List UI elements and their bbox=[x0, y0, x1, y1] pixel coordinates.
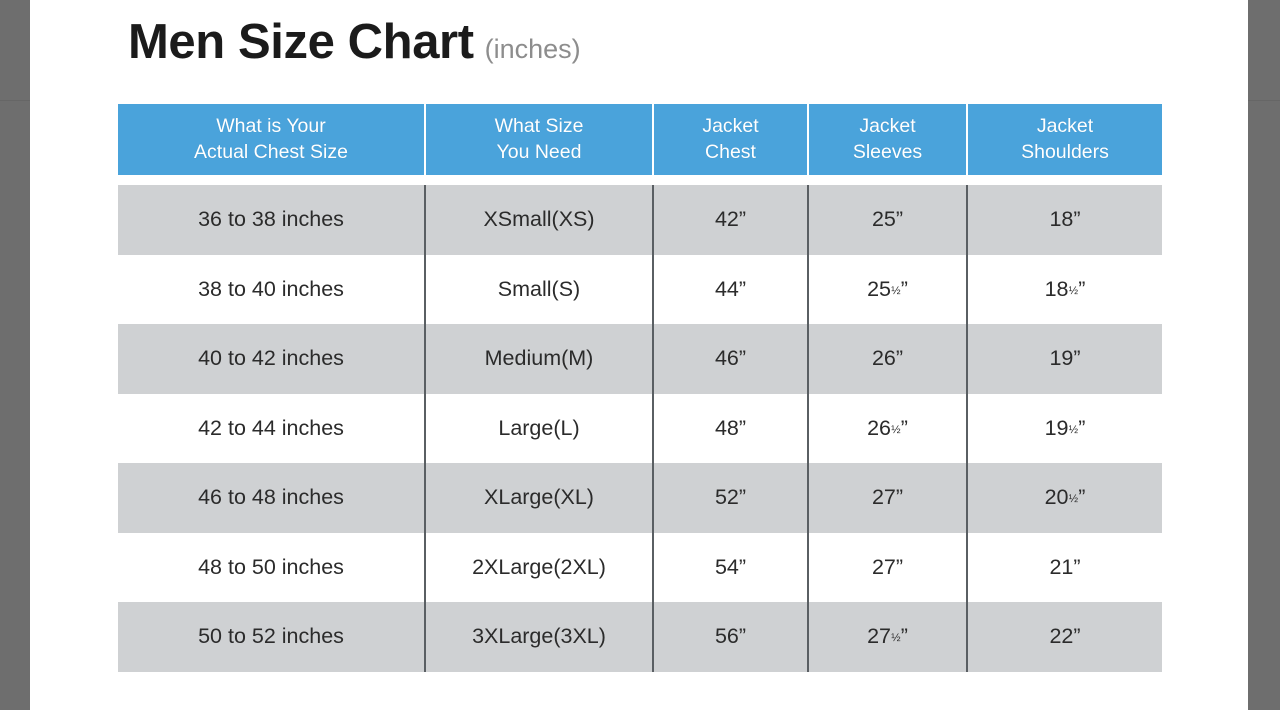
cell-chest-range: 42 to 44 inches bbox=[118, 394, 425, 464]
half-fraction-glyph: ½ bbox=[1069, 286, 1078, 297]
cell-chest-range: 38 to 40 inches bbox=[118, 255, 425, 325]
cell-size-name: Large(L) bbox=[425, 394, 653, 464]
header-body-gap-cell bbox=[118, 175, 1162, 185]
slide-canvas: Men Size Chart (inches) What is Your Act… bbox=[30, 0, 1248, 710]
cell-chest-range: 46 to 48 inches bbox=[118, 463, 425, 533]
column-header-line2: Chest bbox=[658, 140, 803, 166]
cell-chest-range: 36 to 38 inches bbox=[118, 185, 425, 255]
column-header-line1: What is Your bbox=[122, 114, 420, 140]
cell-jacket-sleeves: 27½” bbox=[808, 602, 967, 672]
table-header-row: What is Your Actual Chest Size What Size… bbox=[118, 104, 1162, 175]
screenshot-root: Men Size Chart (inches) What is Your Act… bbox=[0, 0, 1280, 710]
cell-jacket-shoulders: 18” bbox=[967, 185, 1162, 255]
half-fraction-glyph: ½ bbox=[1069, 494, 1078, 505]
half-fraction-glyph: ½ bbox=[891, 633, 900, 644]
column-header-jacket-sleeves: Jacket Sleeves bbox=[808, 104, 967, 175]
cell-jacket-sleeves: 27” bbox=[808, 533, 967, 603]
table-header: What is Your Actual Chest Size What Size… bbox=[118, 104, 1162, 175]
table-row: 46 to 48 inches XLarge(XL) 52” 27” 20½” bbox=[118, 463, 1162, 533]
cell-chest-range: 40 to 42 inches bbox=[118, 324, 425, 394]
cell-size-name: 2XLarge(2XL) bbox=[425, 533, 653, 603]
cell-size-name: Medium(M) bbox=[425, 324, 653, 394]
cell-jacket-chest: 42” bbox=[653, 185, 808, 255]
table-row: 48 to 50 inches 2XLarge(2XL) 54” 27” 21” bbox=[118, 533, 1162, 603]
cell-jacket-chest: 44” bbox=[653, 255, 808, 325]
size-chart-table: What is Your Actual Chest Size What Size… bbox=[118, 104, 1162, 672]
cell-jacket-chest: 48” bbox=[653, 394, 808, 464]
column-header-line2: Sleeves bbox=[813, 140, 962, 166]
cell-jacket-chest: 46” bbox=[653, 324, 808, 394]
table-row: 50 to 52 inches 3XLarge(3XL) 56” 27½” 22… bbox=[118, 602, 1162, 672]
cell-jacket-sleeves: 25½” bbox=[808, 255, 967, 325]
letterbox-bar-left bbox=[0, 0, 30, 710]
cell-chest-range: 48 to 50 inches bbox=[118, 533, 425, 603]
table-body: 36 to 38 inches XSmall(XS) 42” 25” 18” 3… bbox=[118, 175, 1162, 672]
cell-jacket-shoulders: 19” bbox=[967, 324, 1162, 394]
column-header-jacket-chest: Jacket Chest bbox=[653, 104, 808, 175]
column-header-line1: Jacket bbox=[658, 114, 803, 140]
table-row: 36 to 38 inches XSmall(XS) 42” 25” 18” bbox=[118, 185, 1162, 255]
column-header-line2: You Need bbox=[430, 140, 648, 166]
column-header-line2: Shoulders bbox=[972, 140, 1158, 166]
cell-size-name: XSmall(XS) bbox=[425, 185, 653, 255]
half-fraction-glyph: ½ bbox=[891, 425, 900, 436]
header-body-gap bbox=[118, 175, 1162, 185]
column-header-jacket-shoulders: Jacket Shoulders bbox=[967, 104, 1162, 175]
cell-jacket-chest: 52” bbox=[653, 463, 808, 533]
column-header-line1: What Size bbox=[430, 114, 648, 140]
half-fraction-glyph: ½ bbox=[891, 286, 900, 297]
cell-jacket-sleeves: 25” bbox=[808, 185, 967, 255]
table-row: 42 to 44 inches Large(L) 48” 26½” 19½” bbox=[118, 394, 1162, 464]
page-title-unit: (inches) bbox=[485, 36, 581, 63]
cell-size-name: XLarge(XL) bbox=[425, 463, 653, 533]
cell-size-name: 3XLarge(3XL) bbox=[425, 602, 653, 672]
size-chart-container: What is Your Actual Chest Size What Size… bbox=[118, 104, 1162, 672]
cell-jacket-shoulders: 20½” bbox=[967, 463, 1162, 533]
page-title: Men Size Chart (inches) bbox=[128, 18, 581, 67]
cell-jacket-sleeves: 27” bbox=[808, 463, 967, 533]
cell-chest-range: 50 to 52 inches bbox=[118, 602, 425, 672]
column-header-actual-chest-size: What is Your Actual Chest Size bbox=[118, 104, 425, 175]
cell-jacket-shoulders: 18½” bbox=[967, 255, 1162, 325]
cell-jacket-chest: 56” bbox=[653, 602, 808, 672]
cell-size-name: Small(S) bbox=[425, 255, 653, 325]
column-header-line2: Actual Chest Size bbox=[122, 140, 420, 166]
cell-jacket-shoulders: 19½” bbox=[967, 394, 1162, 464]
cell-jacket-shoulders: 21” bbox=[967, 533, 1162, 603]
cell-jacket-sleeves: 26½” bbox=[808, 394, 967, 464]
column-header-line1: Jacket bbox=[972, 114, 1158, 140]
cell-jacket-sleeves: 26” bbox=[808, 324, 967, 394]
page-title-main: Men Size Chart bbox=[128, 18, 474, 67]
column-header-line1: Jacket bbox=[813, 114, 962, 140]
column-header-size-you-need: What Size You Need bbox=[425, 104, 653, 175]
letterbox-bar-right bbox=[1248, 0, 1280, 710]
half-fraction-glyph: ½ bbox=[1069, 425, 1078, 436]
table-row: 40 to 42 inches Medium(M) 46” 26” 19” bbox=[118, 324, 1162, 394]
cell-jacket-shoulders: 22” bbox=[967, 602, 1162, 672]
table-row: 38 to 40 inches Small(S) 44” 25½” 18½” bbox=[118, 255, 1162, 325]
cell-jacket-chest: 54” bbox=[653, 533, 808, 603]
